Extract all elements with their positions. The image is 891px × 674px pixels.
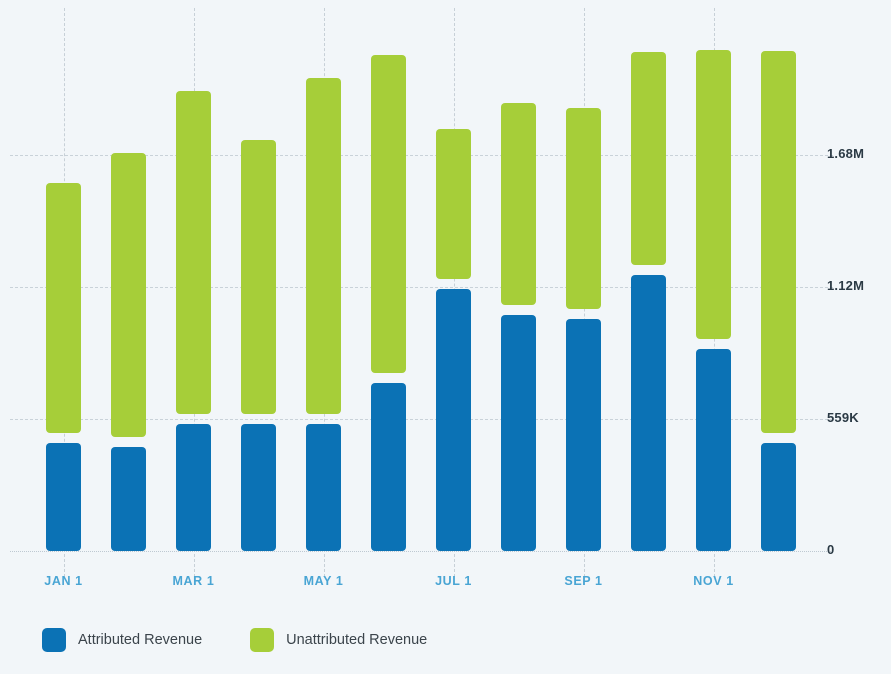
y-axis-label-1.12m: 1.12M — [827, 278, 883, 293]
bar-group-jun-1[interactable] — [371, 0, 406, 551]
bar-group-nov-1[interactable] — [696, 0, 731, 551]
x-axis-label-sep-1: SEP 1 — [564, 574, 602, 588]
bar-attributed-dec-1[interactable] — [761, 443, 796, 551]
plot-area: 0559K1.12M1.68M — [0, 0, 891, 560]
bar-attributed-oct-1[interactable] — [631, 275, 666, 551]
x-axis-label-mar-1: MAR 1 — [173, 574, 215, 588]
x-axis: JAN 1MAR 1MAY 1JUL 1SEP 1NOV 1 — [0, 560, 891, 605]
bar-group-dec-1[interactable] — [761, 0, 796, 551]
bar-attributed-jan-1[interactable] — [46, 443, 81, 551]
x-axis-label-jul-1: JUL 1 — [435, 574, 472, 588]
bar-group-sep-1[interactable] — [566, 0, 601, 551]
legend-swatch-attributed-revenue — [42, 628, 66, 652]
bar-attributed-apr-1[interactable] — [241, 424, 276, 551]
legend-label-attributed-revenue: Attributed Revenue — [78, 632, 202, 648]
bar-unattributed-may-1[interactable] — [306, 78, 341, 414]
legend-item-attributed-revenue[interactable]: Attributed Revenue — [42, 628, 202, 652]
bar-attributed-feb-1[interactable] — [111, 447, 146, 551]
bar-unattributed-mar-1[interactable] — [176, 91, 211, 414]
y-axis-label-1.68m: 1.68M — [827, 146, 883, 161]
bar-attributed-aug-1[interactable] — [501, 315, 536, 551]
bar-group-oct-1[interactable] — [631, 0, 666, 551]
bar-unattributed-dec-1[interactable] — [761, 51, 796, 432]
bar-attributed-sep-1[interactable] — [566, 319, 601, 551]
x-axis-label-may-1: MAY 1 — [304, 574, 344, 588]
bar-group-jul-1[interactable] — [436, 0, 471, 551]
bar-unattributed-apr-1[interactable] — [241, 140, 276, 415]
legend-item-unattributed-revenue[interactable]: Unattributed Revenue — [250, 628, 427, 652]
bar-group-may-1[interactable] — [306, 0, 341, 551]
revenue-bar-chart: 0559K1.12M1.68M JAN 1MAR 1MAY 1JUL 1SEP … — [0, 0, 891, 674]
bar-unattributed-oct-1[interactable] — [631, 52, 666, 265]
bar-unattributed-jun-1[interactable] — [371, 55, 406, 373]
bar-attributed-may-1[interactable] — [306, 424, 341, 551]
bar-group-jan-1[interactable] — [46, 0, 81, 551]
bar-group-aug-1[interactable] — [501, 0, 536, 551]
bar-group-mar-1[interactable] — [176, 0, 211, 551]
legend-label-unattributed-revenue: Unattributed Revenue — [286, 632, 427, 648]
y-axis-label-559k: 559K — [827, 410, 883, 425]
bar-unattributed-jul-1[interactable] — [436, 129, 471, 279]
bar-group-apr-1[interactable] — [241, 0, 276, 551]
bar-group-feb-1[interactable] — [111, 0, 146, 551]
bar-unattributed-feb-1[interactable] — [111, 153, 146, 438]
bar-attributed-nov-1[interactable] — [696, 349, 731, 551]
bar-attributed-jun-1[interactable] — [371, 383, 406, 551]
bar-unattributed-nov-1[interactable] — [696, 50, 731, 339]
x-axis-label-jan-1: JAN 1 — [44, 574, 82, 588]
bar-unattributed-jan-1[interactable] — [46, 183, 81, 432]
y-axis-label-0: 0 — [827, 542, 883, 557]
x-axis-label-nov-1: NOV 1 — [693, 574, 734, 588]
gridline-0 — [10, 551, 833, 552]
bar-attributed-mar-1[interactable] — [176, 424, 211, 551]
legend-swatch-unattributed-revenue — [250, 628, 274, 652]
bar-unattributed-aug-1[interactable] — [501, 103, 536, 305]
bar-attributed-jul-1[interactable] — [436, 289, 471, 551]
chart-legend: Attributed Revenue Unattributed Revenue — [42, 628, 427, 652]
bar-unattributed-sep-1[interactable] — [566, 108, 601, 309]
